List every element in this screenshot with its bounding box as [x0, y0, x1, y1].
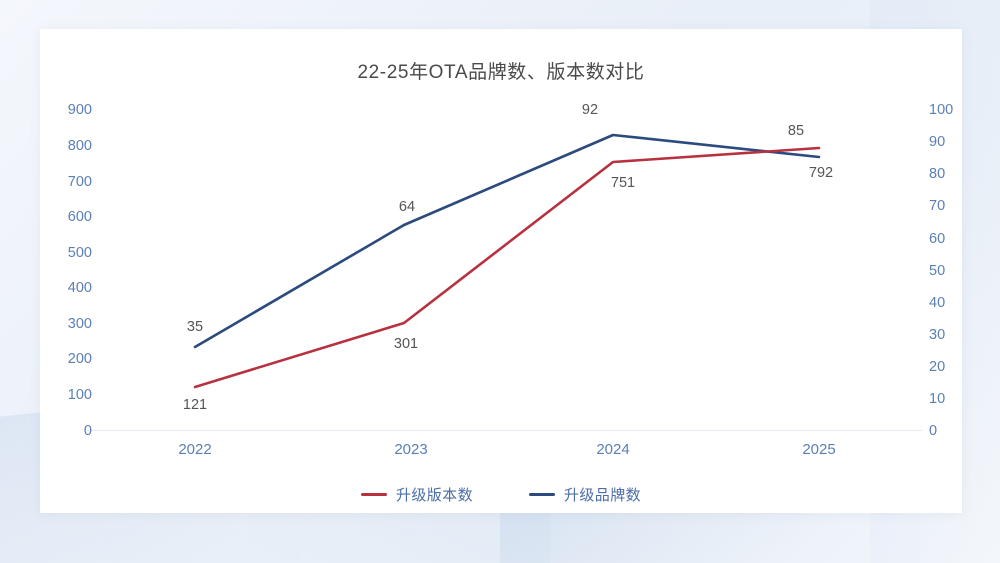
left-axis-tick-300: 300	[48, 317, 92, 332]
data-label-versions-2022: 121	[183, 398, 207, 413]
right-axis-tick-90: 90	[929, 135, 945, 150]
right-axis-tick-60: 60	[929, 232, 945, 247]
x-axis-tick-2022: 2022	[178, 441, 211, 458]
data-label-brands-2023: 64	[399, 200, 415, 215]
legend-item-versions[interactable]: 升级版本数	[361, 484, 473, 505]
left-axis-tick-800: 800	[48, 139, 92, 154]
left-axis-tick-0: 0	[48, 424, 92, 439]
data-label-versions-2025: 792	[809, 166, 833, 181]
axis-baseline	[88, 430, 922, 431]
right-axis-tick-30: 30	[929, 328, 945, 343]
right-axis-tick-10: 10	[929, 392, 945, 407]
left-axis-tick-500: 500	[48, 246, 92, 261]
x-axis-tick-2023: 2023	[394, 441, 427, 458]
x-axis-tick-2025: 2025	[802, 441, 835, 458]
right-axis-tick-70: 70	[929, 199, 945, 214]
left-axis-tick-400: 400	[48, 281, 92, 296]
data-label-versions-2023: 301	[394, 337, 418, 352]
right-axis-tick-50: 50	[929, 264, 945, 279]
data-label-versions-2024: 751	[611, 176, 635, 191]
left-axis-tick-100: 100	[48, 388, 92, 403]
legend-swatch-red-icon	[361, 493, 387, 496]
right-axis-tick-20: 20	[929, 360, 945, 375]
x-axis-tick-2024: 2024	[596, 441, 629, 458]
legend-label-brands: 升级品牌数	[564, 484, 641, 505]
data-label-brands-2025: 85	[788, 124, 804, 139]
legend-item-brands[interactable]: 升级品牌数	[529, 484, 641, 505]
left-axis-tick-900: 900	[48, 103, 92, 118]
legend-swatch-blue-icon	[529, 493, 555, 496]
right-axis-tick-0: 0	[929, 424, 937, 439]
left-axis-tick-600: 600	[48, 210, 92, 225]
legend-label-versions: 升级版本数	[396, 484, 473, 505]
chart-title: 22-25年OTA品牌数、版本数对比	[40, 57, 962, 84]
chart-legend: 升级版本数 升级品牌数	[40, 484, 962, 505]
data-label-brands-2022: 35	[187, 320, 203, 335]
line-series-brands	[195, 135, 819, 347]
left-axis-tick-700: 700	[48, 175, 92, 190]
right-axis-tick-40: 40	[929, 296, 945, 311]
chart-card: 22-25年OTA品牌数、版本数对比 900 800 700 600 500 4…	[40, 29, 962, 513]
series-plot-lines	[88, 109, 922, 430]
right-axis-tick-80: 80	[929, 167, 945, 182]
data-label-brands-2024: 92	[582, 103, 598, 118]
right-axis-tick-100: 100	[929, 103, 953, 118]
left-axis-tick-200: 200	[48, 352, 92, 367]
line-series-versions	[195, 148, 819, 387]
